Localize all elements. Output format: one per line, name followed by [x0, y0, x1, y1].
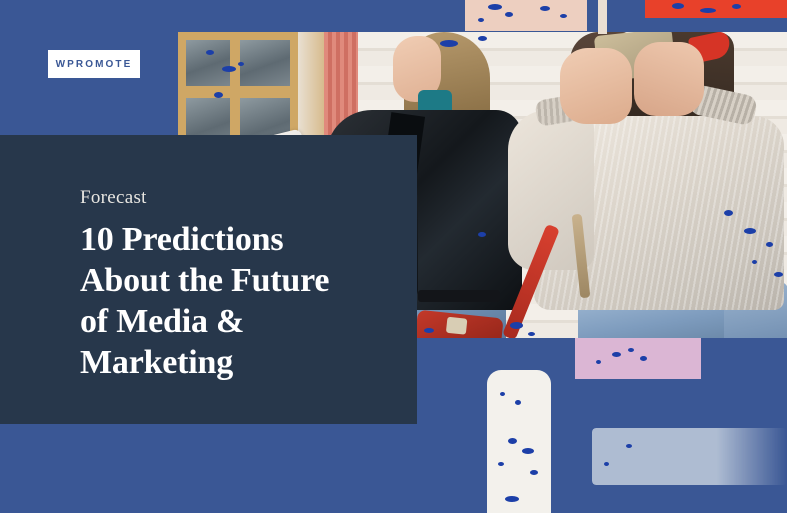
title-panel: Forecast 10 Predictions About the Future…: [0, 135, 417, 424]
wpromote-logo-text: WPROMOTE: [56, 59, 133, 70]
wpromote-logo[interactable]: WPROMOTE: [48, 50, 140, 78]
decoration-beige-block: [465, 0, 587, 31]
headline-line-2: About the Future: [80, 260, 399, 301]
decoration-beige-strip: [598, 0, 607, 34]
decoration-white-block: [487, 370, 551, 513]
headline-line-3: of Media &: [80, 301, 399, 342]
eyebrow-label: Forecast: [80, 187, 399, 209]
decoration-gray-blue-block: [592, 428, 787, 485]
decoration-red-block: [645, 0, 787, 18]
ebook-cover-slide: Forecast 10 Predictions About the Future…: [0, 0, 787, 513]
decoration-pink-block: [575, 338, 701, 379]
headline-line-1: 10 Predictions: [80, 219, 399, 260]
headline-line-4: Marketing: [80, 342, 399, 383]
page-title: 10 Predictions About the Future of Media…: [80, 219, 399, 384]
